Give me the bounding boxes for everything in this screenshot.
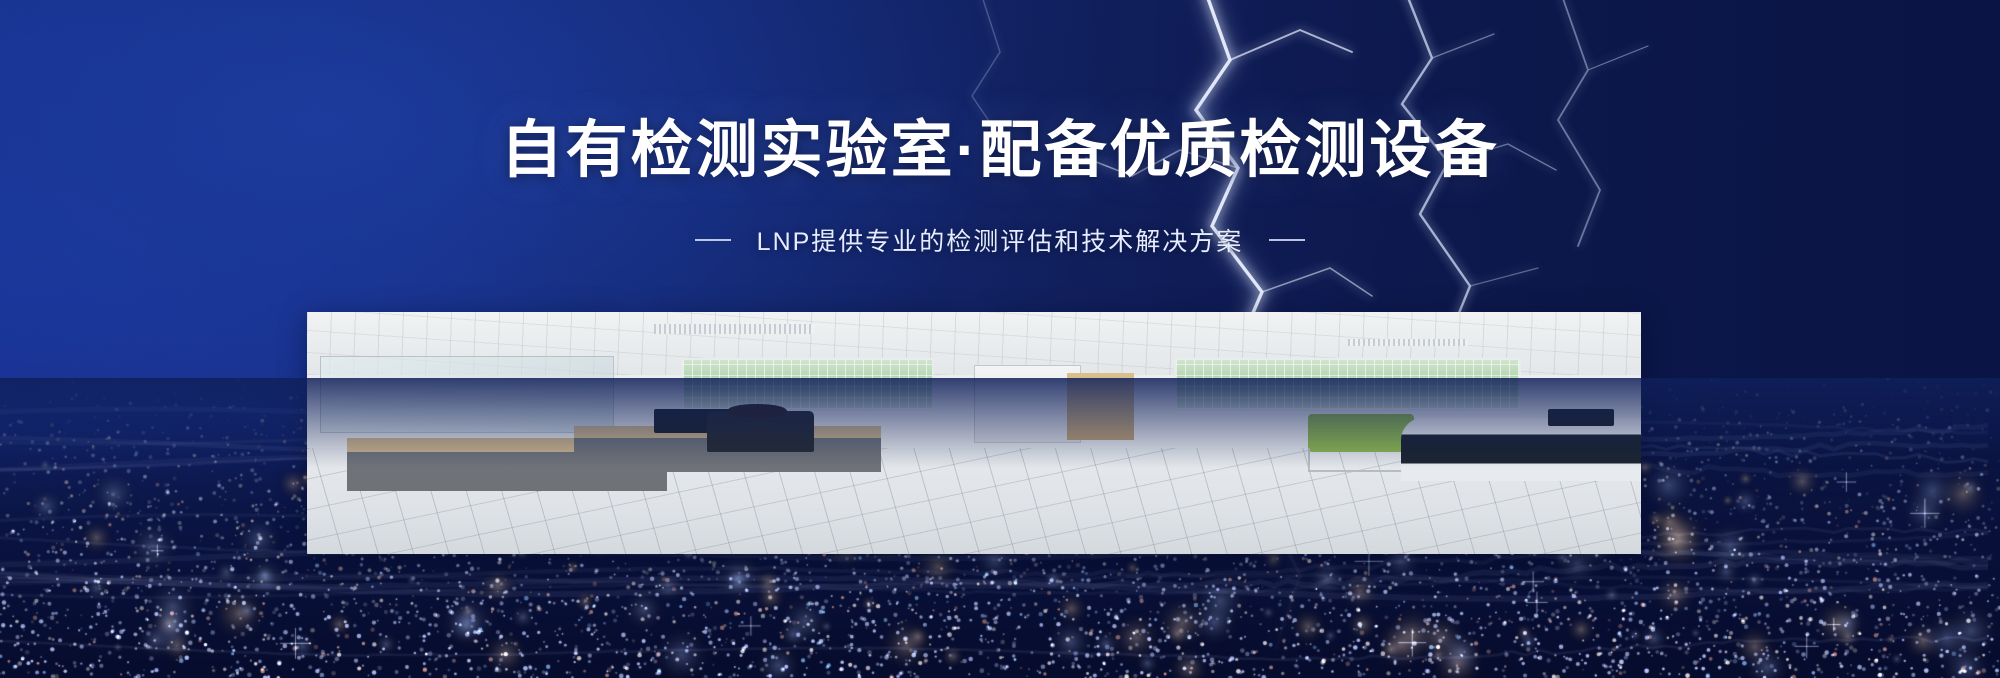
storage-cabinet (974, 365, 1081, 442)
office-window (681, 358, 934, 411)
ceiling-vent (1348, 339, 1468, 346)
subtitle-row: LNP提供专业的检测评估和技术解决方案 (0, 222, 2000, 258)
glass-partition (320, 356, 613, 433)
bookshelf (1067, 373, 1134, 441)
reception-counter (1401, 418, 1641, 481)
office-window (1174, 358, 1521, 411)
right-rule-icon (1269, 239, 1305, 241)
page-subtitle: LNP提供专业的检测评估和技术解决方案 (757, 222, 1244, 258)
page-title: 自有检测实验室·配备优质检测设备 (501, 118, 1500, 184)
left-rule-icon (695, 239, 731, 241)
office-photo (307, 312, 1641, 554)
hero-banner: 自有检测实验室·配备优质检测设备 LNP提供专业的检测评估和技术解决方案 (0, 0, 2000, 678)
counter-monitor (1548, 409, 1615, 426)
headline-container: 自有检测实验室·配备优质检测设备 (0, 118, 2000, 184)
ceiling-vent (654, 324, 814, 334)
photo-card-gallery: 广东雷宁普电气检测技术有限公司 Guangdong Lighting Prote… (307, 312, 1641, 554)
photo-card-office[interactable] (1321, 312, 1641, 554)
